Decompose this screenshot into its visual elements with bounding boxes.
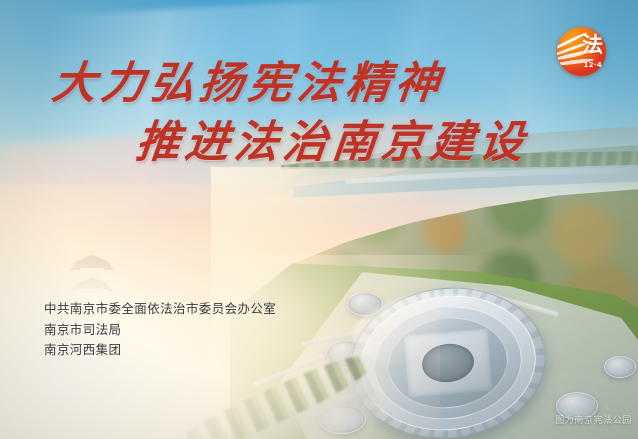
circular-basin — [604, 356, 636, 378]
national-constitution-day-emblem: 法 12·4 — [557, 27, 606, 76]
headline: 大力弘扬宪法精神 推进法治南京建设 — [0, 62, 560, 166]
emblem-date-label: 12·4 — [584, 61, 602, 69]
photo-credit-watermark: 图为南京宪法公园 — [555, 413, 632, 426]
organization-line: 中共南京市委全面依法治市委员会办公室 — [44, 299, 276, 319]
organization-credits: 中共南京市委全面依法治市委员会办公室 南京市司法局 南京河西集团 — [44, 299, 276, 360]
emblem-law-glyph: 法 — [582, 35, 603, 56]
headline-line-1: 大力弘扬宪法精神 — [50, 62, 563, 107]
organization-line: 南京河西集团 — [44, 340, 276, 360]
poster-canvas: 法 12·4 大力弘扬宪法精神 推进法治南京建设 中共南京市委全面依法治市委员会… — [0, 0, 638, 439]
headline-line-2: 推进法治南京建设 — [134, 121, 563, 166]
organization-line: 南京市司法局 — [44, 320, 276, 340]
